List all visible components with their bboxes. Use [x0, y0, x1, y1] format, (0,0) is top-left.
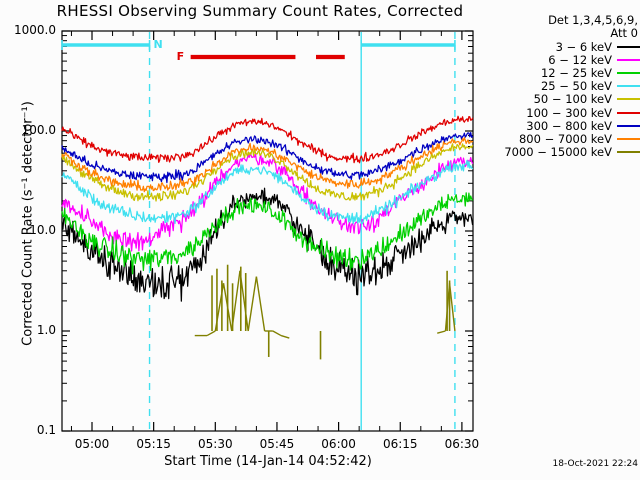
y-tick-label: 100.0: [0, 123, 56, 137]
legend-entry-label: 800 − 7000 keV: [519, 132, 612, 146]
series-line-6-12-kev: [62, 154, 473, 251]
legend-entry: 800 − 7000 keV: [478, 132, 640, 145]
legend-color-swatch: [617, 125, 640, 127]
legend-entry: 50 − 100 keV: [478, 93, 640, 106]
legend-color-swatch: [617, 98, 640, 100]
legend-color-swatch: [617, 72, 640, 74]
legend-entry: 100 − 300 keV: [478, 106, 640, 119]
legend-entry-label: 6 − 12 keV: [548, 53, 612, 67]
series-segment: [437, 331, 445, 333]
x-tick-label: 06:30: [432, 437, 492, 451]
plot-frame: [62, 31, 473, 431]
legend-color-swatch: [617, 85, 640, 87]
legend-entry-label: 50 − 100 keV: [534, 92, 612, 106]
x-tick-label: 05:00: [62, 437, 122, 451]
legend-color-swatch: [617, 112, 640, 114]
flare-marker-label: F: [177, 50, 185, 63]
series-segment: [450, 283, 455, 331]
y-tick-label: 10.0: [0, 223, 56, 237]
legend-header-attenuator: Att 0: [478, 27, 640, 40]
series-segment: [281, 336, 289, 338]
legend-entry-label: 7000 − 15000 keV: [504, 145, 612, 159]
x-tick-label: 05:15: [124, 437, 184, 451]
x-tick-label: 06:00: [309, 437, 369, 451]
legend-entry-list: 3 − 6 keV6 − 12 keV12 − 25 keV25 − 50 ke…: [478, 40, 640, 159]
legend-color-swatch: [617, 46, 640, 48]
legend-entry-label: 3 − 6 keV: [556, 40, 612, 54]
series-segment: [207, 331, 215, 336]
legend-color-swatch: [617, 138, 640, 140]
legend-entry: 6 − 12 keV: [478, 53, 640, 66]
legend: Det 1,3,4,5,6,9, Att 0 3 − 6 keV6 − 12 k…: [478, 14, 640, 159]
y-tick-label: 0.1: [0, 423, 56, 437]
legend-color-swatch: [617, 151, 640, 153]
series-segment: [256, 277, 264, 331]
x-tick-label: 05:30: [185, 437, 245, 451]
legend-entry-label: 12 − 25 keV: [541, 66, 612, 80]
legend-entry: 300 − 800 keV: [478, 119, 640, 132]
rhessi-count-rate-chart: RHESSI Observing Summary Count Rates, Co…: [0, 0, 640, 480]
legend-entry-label: 25 − 50 keV: [541, 79, 612, 93]
legend-color-swatch: [617, 59, 640, 61]
legend-entry-label: 100 − 300 keV: [526, 106, 612, 120]
legend-entry: 25 − 50 keV: [478, 80, 640, 93]
legend-entry-label: 300 − 800 keV: [526, 119, 612, 133]
legend-entry: 7000 − 15000 keV: [478, 146, 640, 159]
legend-entry: 3 − 6 keV: [478, 40, 640, 53]
x-tick-label: 05:45: [247, 437, 307, 451]
y-tick-label: 1000.0: [0, 23, 56, 37]
series-segment: [273, 331, 281, 336]
y-tick-label: 1.0: [0, 323, 56, 337]
night-marker-label: N: [154, 38, 163, 51]
series-segment: [248, 277, 256, 331]
legend-entry: 12 − 25 keV: [478, 66, 640, 79]
x-tick-label: 06:15: [370, 437, 430, 451]
